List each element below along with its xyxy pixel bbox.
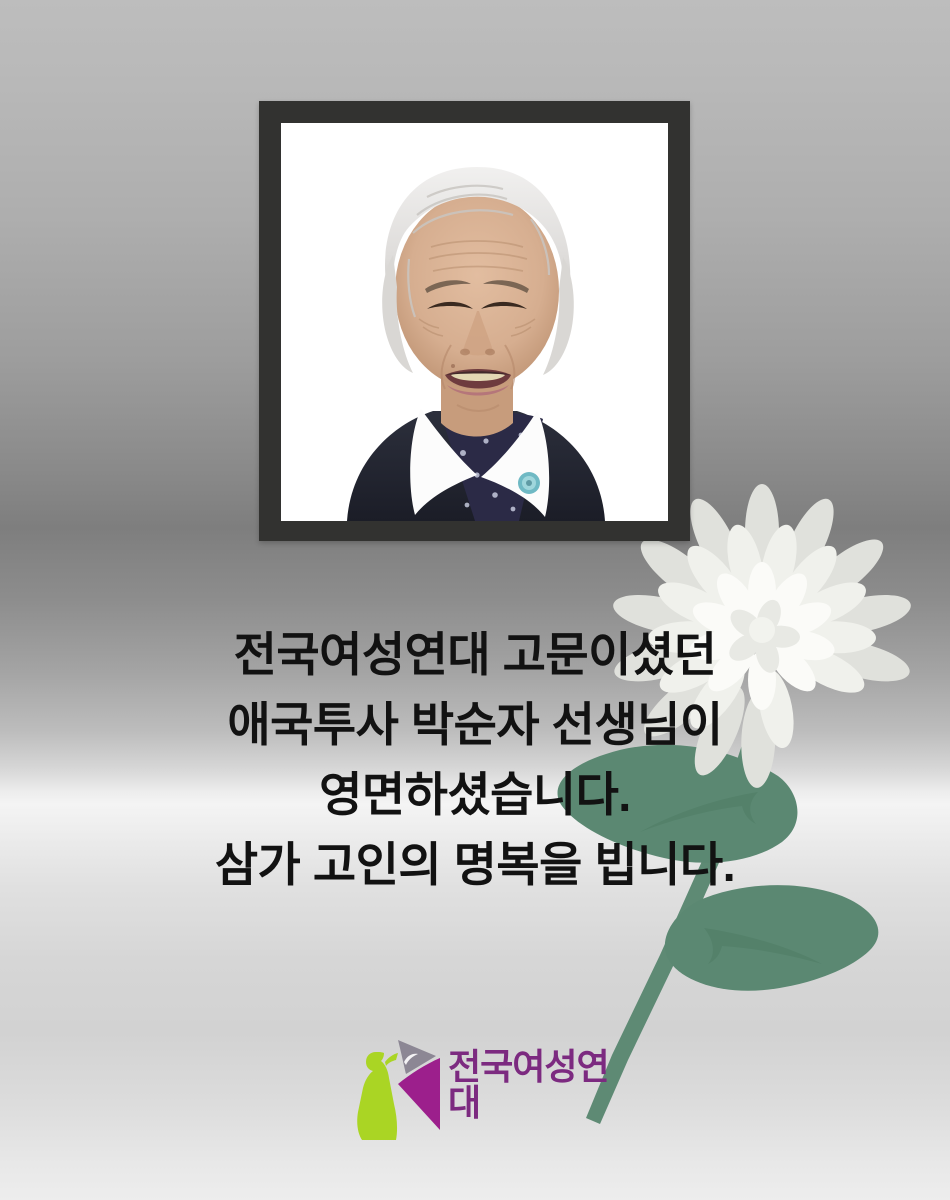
- memorial-line-3: 영면하셨습니다.: [0, 760, 950, 830]
- logo-wordmark: 전국여성연대: [448, 1049, 612, 1127]
- memorial-message: 전국여성연대 고문이셨던 애국투사 박순자 선생님이 영면하셨습니다. 삼가 고…: [0, 620, 950, 900]
- organization-logo: 전국여성연대: [352, 1034, 612, 1142]
- brooch-icon: [518, 472, 540, 494]
- memorial-line-1: 전국여성연대 고문이셨던: [0, 620, 950, 690]
- portrait-photo: [281, 123, 668, 521]
- memorial-card: 전국여성연대 고문이셨던 애국투사 박순자 선생님이 영면하셨습니다. 삼가 고…: [0, 0, 950, 1200]
- memorial-line-4: 삼가 고인의 명복을 빕니다.: [0, 830, 950, 900]
- portrait-illustration: [281, 123, 668, 521]
- memorial-line-2: 애국투사 박순자 선생님이: [0, 690, 950, 760]
- logo-mark-icon: [352, 1034, 444, 1142]
- portrait-frame: [259, 101, 690, 541]
